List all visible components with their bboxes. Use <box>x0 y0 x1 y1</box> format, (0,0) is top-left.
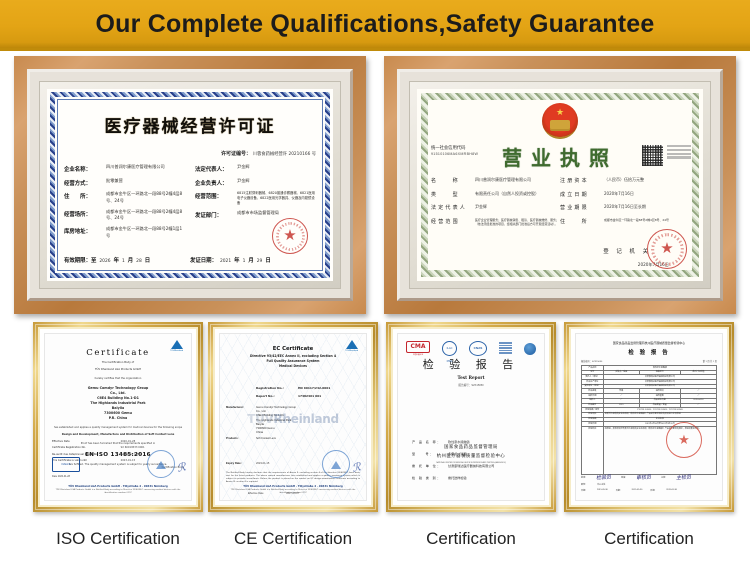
issue-month: 1 <box>243 259 246 264</box>
validity-prefix: 至 <box>91 256 96 264</box>
sig-label-2: 审核： <box>621 476 635 479</box>
row-key: Re-audit due date/Annual Report No. <box>52 453 121 456</box>
certificate-card-ce[interactable]: TUVRheinland EC Certificate Directive 93… <box>208 322 378 549</box>
issue-label: 发证日期： <box>190 256 217 264</box>
frame-inner: TÜVRheinland Certificate The Certificati… <box>38 327 198 507</box>
tuv-blue-stamp-icon <box>147 450 175 478</box>
certificate-paper: TUVRheinland EC Certificate Directive 93… <box>219 333 367 501</box>
issue-date: 发证日期： 2021 年 1 月 29 日 <box>190 256 316 264</box>
footer-address: TÜV Rheinland LGA Products GmbH · Tillys… <box>225 485 361 488</box>
row-value: 2020-01-28 <box>121 440 184 443</box>
official-seal-icon <box>666 422 702 458</box>
products-value: Soft Contact Lens <box>256 437 360 440</box>
field-row: 类 型 有限责任公司（自然人投资或控股） <box>431 191 560 198</box>
accreditation-bars-icon <box>499 342 512 355</box>
field-label: 住 所： <box>64 191 104 200</box>
certificate-card-test-report[interactable]: CMA 中国计量认证 ILACMRA CNAS <box>386 322 556 549</box>
cnas-logo-icon: CNAS <box>469 342 487 355</box>
footer-address: TÜV Rheinland LGA Products GmbH · Tillys… <box>50 485 186 488</box>
framed-certificate-business-license[interactable]: 统一社会信用代码 91510106MA6XMRBH8W 营业执照 名 称 <box>384 56 736 314</box>
mfr-line: Gemu Comdyr Technology Group <box>256 406 296 409</box>
certificate-paper: 统一社会信用代码 91510106MA6XMRBH8W 营业执照 名 称 <box>417 89 703 281</box>
footer-note: TÜV Rheinland LGA Products GmbH is a Not… <box>225 489 361 495</box>
field-value: 成都市市场监督管理局 <box>237 210 279 217</box>
attest-line: hereby certifies that the organization <box>45 377 191 381</box>
row-value: SX 60019533 0001 <box>121 446 184 449</box>
official-seal-icon <box>647 229 687 269</box>
tuv-logo-text: TÜVRheinland <box>169 350 184 352</box>
page-indicator: 第 1 页 共 1 页 <box>703 359 717 363</box>
frame-inner: TUVRheinland EC Certificate Directive 93… <box>213 327 373 507</box>
qr-code-icon <box>642 145 663 166</box>
left-field-column: 名 称 四川普润尔康医疗管理有限公司 类 型 有限责任公司（自然人投资或控股） … <box>431 177 560 232</box>
tuv-logo-text: TUVRheinland <box>344 350 359 352</box>
tuv-blue-stamp-icon <box>322 450 350 478</box>
report-meta: 报告编号：SZX15050 第 1 页 共 1 页 <box>581 359 717 363</box>
page-header-banner: Our Complete Qualifications,Safety Guara… <box>0 0 750 51</box>
certificate-card-iso[interactable]: TÜVRheinland Certificate The Certificati… <box>33 322 203 549</box>
field-label: 法定代表人 <box>431 204 475 211</box>
frame-bevel: 统一社会信用代码 91510106MA6XMRBH8W 营业执照 名 称 <box>397 69 723 301</box>
row-value: 17482461 001 <box>298 394 360 398</box>
field-label: 检 验 类 别： <box>412 475 446 480</box>
report-table: 产品名称 软性亲水接触镜 型号 多焦点／球面 规格型号 系列／标称值 委托人（单… <box>581 365 717 475</box>
row-key: 检验结论 <box>582 426 604 474</box>
top-certificate-row: 医疗器械经营许可证 许可证编号： 川蓉食药械经营许 20210166 号 企业名… <box>0 48 750 320</box>
right-field-column: 注册资本 （人民币）伍拾万元整 成立日期 2020年7月16日 营业期限 202… <box>560 177 689 232</box>
registrar-label: 登 记 机 关 <box>603 247 651 255</box>
field-row: 经营场所： 成都市金牛区一环路北一段88号2幢4层8号、24号 <box>64 209 185 222</box>
field-label: 发证部门： <box>195 210 235 219</box>
certificate-paper: 国家食品药品监督管理局杭州医疗器械质量监督检验中心 检 验 报 告 报告编号：S… <box>575 333 723 501</box>
signature-block: 批准： 检验员 审核： 审核员 主检： 主检员 职务： 中心主任 <box>581 474 717 495</box>
field-row: 企业名称： 四川普润尔康医疗管理有限公司 <box>64 164 185 173</box>
row-key: Report No.: <box>256 394 298 398</box>
certificate-caption: ISO Certification <box>33 529 203 549</box>
gold-frame: 国家食品药品监督管理局杭州医疗器械质量监督检验中心 检 验 报 告 报告编号：S… <box>564 322 734 512</box>
tuv-rheinland-logo-icon: TUVRheinland <box>344 340 359 353</box>
field-label: 库房地址： <box>64 226 104 235</box>
field-value: 成都市金牛区一环路北一段88号2幢1层1号 <box>106 226 185 239</box>
products-label: Products: <box>226 437 256 440</box>
sig-label: 职务： <box>581 483 595 486</box>
issue-year-unit: 年 <box>234 256 239 264</box>
sig-name-3: 2015-05-30 <box>666 489 677 491</box>
row-value: HD 60117/242-0001 <box>298 386 360 390</box>
frame-mat: 医疗器械经营许可证 许可证编号： 川蓉食药械经营许 20210166 号 企业名… <box>39 81 341 289</box>
field-label: 企业名称： <box>64 164 104 173</box>
bottom-certificate-row: TÜVRheinland Certificate The Certificati… <box>0 322 750 570</box>
tuv-watermark: TUVRheinland <box>220 412 366 426</box>
license-number-value: 川蓉食药械经营许 20210166 号 <box>253 152 316 157</box>
issue-month-unit: 月 <box>248 256 253 264</box>
issuing-authority-en: NATIONAL CENTER OF MEDICAL DEVICE SUPERV… <box>404 462 538 464</box>
field-label: 法定代表人： <box>195 164 235 173</box>
issuing-body-line-1: The Certification Body of <box>45 361 191 365</box>
field-row: 注册资本 （人民币）伍拾万元整 <box>560 177 689 184</box>
issue-year: 2021 <box>220 259 231 264</box>
field-value: 四川普润尔康医疗管理有限公司 <box>106 164 165 171</box>
sig-name-3: 主检员 <box>676 473 691 481</box>
footer-note: TÜV Rheinland LGA Products GmbH is a Not… <box>50 489 186 495</box>
sig-label-2: 日期： <box>616 489 630 492</box>
report-footer: 国家食品药品监督管理局 杭州医疗器械质量监督检验中心 NATIONAL CENT… <box>404 444 538 464</box>
org-line: P.R. China <box>45 416 191 421</box>
gold-frame: CMA 中国计量认证 ILACMRA CNAS <box>386 322 556 512</box>
field-value: 6815注射穿刺器械、6820普通诊察器械、6821医用电子仪器设备、6822医… <box>237 191 316 206</box>
china-nil-logo-icon <box>524 342 536 355</box>
field-value: 尹金辉 <box>475 204 487 211</box>
accreditation-logo-row: CMA 中国计量认证 ILACMRA CNAS <box>406 342 536 355</box>
validity-day-unit: 日 <box>145 256 150 264</box>
sig-label-3: 日期： <box>650 489 664 492</box>
mfr-line: China <box>256 431 263 434</box>
certificate-paper: CMA 中国计量认证 ILACMRA CNAS <box>397 333 545 501</box>
field-row: 住 所： 成都市金牛区一环路北一段88号2幢4层8号、24号 <box>64 191 185 204</box>
ilac-mra-logo-icon: ILACMRA <box>442 342 457 355</box>
seal-text-ring <box>276 222 305 251</box>
license-number-label: 许可证编号： <box>221 151 251 157</box>
table-row: Report No.: 17482461 001 <box>256 394 360 398</box>
signature-row: 日期： 2015-05-30 日期： 2015-05-30 日期： 2015-0… <box>581 489 717 492</box>
scope-intro: has established and applies a quality ma… <box>45 426 191 430</box>
field-label: 经营方式： <box>64 178 104 187</box>
issuing-authority-line: 国家食品药品监督管理局杭州医疗器械质量监督检验中心 <box>576 341 722 345</box>
gold-frame: TÜVRheinland Certificate The Certificati… <box>33 322 203 512</box>
field-row: 经营方式： 批零兼营 <box>64 178 185 187</box>
dakks-logo-icon: DAkkS <box>52 457 80 472</box>
field-row: 库房地址： 成都市金牛区一环路北一段88号2幢1层1号 <box>64 226 185 239</box>
certificate-paper: TÜVRheinland Certificate The Certificati… <box>44 333 192 501</box>
framed-certificate-medical-device-license[interactable]: 医疗器械经营许可证 许可证编号： 川蓉食药械经营许 20210166 号 企业名… <box>14 56 366 314</box>
page-title: Our Complete Qualifications,Safety Guara… <box>96 10 655 39</box>
issuing-authority-2: 杭州医疗器械质量监督检验中心 <box>404 453 538 459</box>
official-seal-icon <box>272 218 308 254</box>
validity-period: 有效期限： 至 2026 年 1 月 28 日 <box>64 256 190 264</box>
field-value: 委托送样检验 <box>448 475 467 480</box>
certificate-caption: CE Certification <box>208 529 378 549</box>
gold-frame: TUVRheinland EC Certificate Directive 93… <box>208 322 378 512</box>
field-row: 检 验 类 别： 委托送样检验 <box>412 475 534 480</box>
sig-name-2: 审核员 <box>636 473 651 481</box>
field-row: 经营范围： 6815注射穿刺器械、6820普通诊察器械、6821医用电子仪器设备… <box>195 191 316 206</box>
sig-name: 检验员 <box>596 473 611 481</box>
validity-label: 有效期限： <box>64 256 91 264</box>
field-value: 四川普润尔康医疗管理有限公司 <box>475 177 531 184</box>
field-row: 法定代表人： 尹金辉 <box>195 164 316 173</box>
report-title-en: Test Report <box>398 375 544 380</box>
sig-label: 批准： <box>581 476 595 479</box>
validity-year: 2026 <box>99 259 110 264</box>
report-title: 检 验 报 告 <box>398 356 544 372</box>
date-line: Date 2020-01-28 <box>52 475 70 478</box>
validity-year-unit: 年 <box>114 256 119 264</box>
scope-text: Design and Development, Manufacture and … <box>45 433 191 437</box>
sig-label-3: 主检： <box>661 476 675 479</box>
qr-side-lines <box>667 145 691 160</box>
field-value: 有限责任公司（自然人投资或控股） <box>475 191 539 198</box>
field-row: 名 称 四川普润尔康医疗管理有限公司 <box>431 177 560 184</box>
registration-rows: Registration No.: HD 60117/242-0001 Repo… <box>256 386 360 401</box>
sig-name: 中心主任 <box>597 483 605 486</box>
sig-label: 日期： <box>581 489 595 492</box>
field-row: 成立日期 2020年7月16日 <box>560 191 689 198</box>
field-value: 2020年7月16日至长期 <box>604 204 646 211</box>
signature-row: 批准： 检验员 审核： 审核员 主检： 主检员 <box>581 474 717 481</box>
field-label: 名 称 <box>431 177 475 184</box>
seal-text-ring <box>651 233 684 266</box>
field-value: 成都市金牛区一环路北一段88号2幢4层8号、24号 <box>604 218 669 225</box>
certificate-title: 医疗器械经营许可证 <box>60 112 320 137</box>
table-row: Certificate Registration No. SX 60019533… <box>52 446 184 449</box>
validity-month-unit: 月 <box>128 256 133 264</box>
field-label: 企业负责人： <box>195 178 235 187</box>
mfr-line: 7300600 Gemu <box>256 427 275 430</box>
field-row: 法定代表人 尹金辉 <box>431 204 560 211</box>
field-label: 营业期限 <box>560 204 604 211</box>
tuv-rheinland-logo-icon: TÜVRheinland <box>169 340 184 353</box>
issue-day: 29 <box>257 259 263 264</box>
field-label: 住 所 <box>560 218 604 225</box>
field-value: 尹金辉 <box>237 164 250 171</box>
issue-day-unit: 日 <box>265 256 270 264</box>
field-value: 批零兼营 <box>106 178 123 185</box>
field-row: 企业负责人： 尹金辉 <box>195 178 316 187</box>
field-label: 注册资本 <box>560 177 604 184</box>
field-row: 经营范围 医疗企业管理服务；医疗器械销售、租赁、医疗器械维修、服务；（依法须经批… <box>431 218 560 226</box>
products-block: Products: Soft Contact Lens <box>226 437 360 440</box>
frame-inner: 国家食品药品监督管理局杭州医疗器械质量监督检验中心 检 验 报 告 报告编号：S… <box>569 327 729 507</box>
table-row: Effective Date 2020-01-28 <box>52 440 184 443</box>
field-value: 成都市金牛区一环路北一段88号2幢4层8号、24号 <box>106 209 185 222</box>
row-key: Certificate Registration No. <box>52 446 121 449</box>
field-label: 成立日期 <box>560 191 604 198</box>
row-key: Registration No.: <box>256 386 298 390</box>
signature-row: 职务： 中心主任 <box>581 483 717 486</box>
field-value: 尹金辉 <box>237 178 250 185</box>
cma-logo-icon: CMA 中国计量认证 <box>406 342 430 355</box>
expiry-label: Expiry Date: <box>226 462 256 465</box>
field-row: 住 所 成都市金牛区一环路北一段88号2幢4层8号、24号 <box>560 218 689 225</box>
field-value: 2020年7月16日 <box>604 191 634 198</box>
field-row: 营业期限 2020年7月16日至长期 <box>560 204 689 211</box>
report-number: 报告编号：SZX15050 <box>581 359 602 363</box>
frame-bevel: 医疗器械经营许可证 许可证编号： 川蓉食药械经营许 20210166 号 企业名… <box>27 69 353 301</box>
issuing-body-line-2: TÜV Rheinland LGA Products GmbH <box>45 368 191 372</box>
sig-name-2: 2015-05-30 <box>632 489 643 491</box>
validity-day: 28 <box>136 259 142 264</box>
field-label: 经营范围 <box>431 218 475 226</box>
table-row: Registration No.: HD 60117/242-0001 <box>256 386 360 390</box>
certificate-card-test-report-table[interactable]: 国家食品药品监督管理局杭州医疗器械质量监督检验中心 检 验 报 告 报告编号：S… <box>564 322 734 549</box>
field-value: 医疗企业管理服务；医疗器械销售、租赁、医疗器械维修、服务；（依法须经批准的项目，… <box>475 218 560 226</box>
field-value: 成都市金牛区一环路北一段88号2幢4层8号、24号 <box>106 191 185 204</box>
left-field-column: 企业名称： 四川普润尔康医疗管理有限公司 经营方式： 批零兼营 住 所： <box>60 164 189 244</box>
report-number: 报告编号：SZX15050 <box>398 383 544 387</box>
field-label: 类 型 <box>431 191 475 198</box>
field-label: 经营范围： <box>195 191 235 200</box>
certificate-caption: Certification <box>386 529 556 549</box>
report-title: 检 验 报 告 <box>576 348 722 356</box>
date-row: 有效期限： 至 2026 年 1 月 28 日 <box>64 256 316 264</box>
validity-month: 1 <box>122 259 125 264</box>
qualifications-page: Our Complete Qualifications,Safety Guara… <box>0 0 750 570</box>
row-key: Effective Date <box>52 440 121 443</box>
national-emblem-icon <box>542 103 578 139</box>
frame-mat: 统一社会信用代码 91510106MA6XMRBH8W 营业执照 名 称 <box>409 81 711 289</box>
field-label: 经营场所： <box>64 209 104 218</box>
field-row: 发证部门： 成都市市场监督管理局 <box>195 210 316 219</box>
sig-name: 2015-05-30 <box>597 489 608 491</box>
frame-inner: CMA 中国计量认证 ILACMRA CNAS <box>391 327 551 507</box>
field-value: （人民币）伍拾万元整 <box>604 177 644 184</box>
certificate-caption: Certification <box>564 529 734 549</box>
license-number-row: 许可证编号： 川蓉食药械经营许 20210166 号 <box>221 150 316 157</box>
certificate-paper: 医疗器械经营许可证 许可证编号： 川蓉食药械经营许 20210166 号 企业名… <box>47 89 333 281</box>
issuing-authority-1: 国家食品药品监督管理局 <box>404 444 538 450</box>
